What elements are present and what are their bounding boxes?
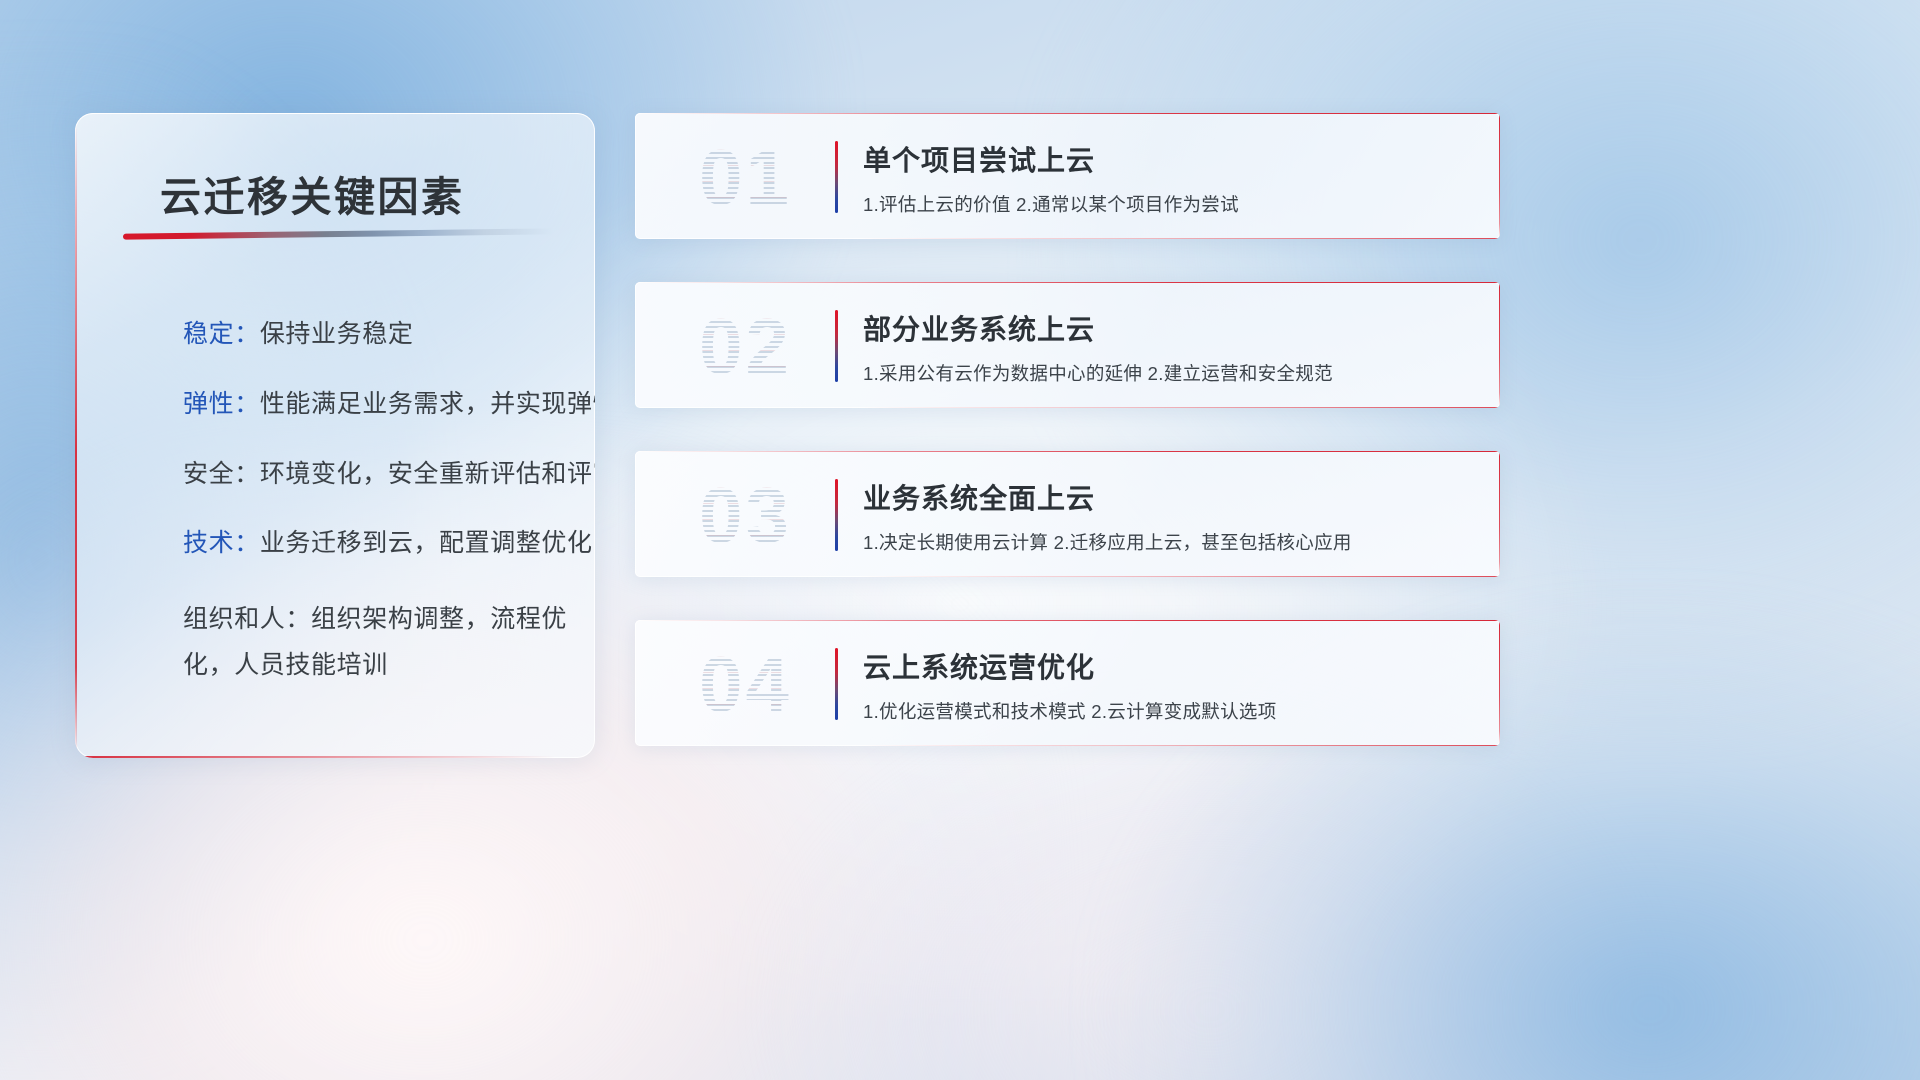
card-top-accent-line	[635, 113, 1500, 114]
panel-left-accent-line	[75, 121, 77, 756]
card-top-accent-line	[635, 451, 1500, 452]
list-item: 安全：环境变化，安全重新评估和评审	[183, 458, 571, 492]
stage-card[interactable]: 02 02 部分业务系统上云 1.采用公有云作为数据中心的延伸 2.建立运营和安…	[635, 282, 1500, 408]
list-item: 弹性：性能满足业务需求，并实现弹性	[183, 388, 571, 422]
key-factors-panel: 云迁移关键因素 稳定：保持业务稳定 弹性：性能满足业务需求，并实现弹性 安全：环…	[75, 113, 595, 758]
card-right-accent-line	[1499, 282, 1500, 408]
list-item-label: 稳定：	[183, 320, 260, 348]
panel-title-underline	[123, 228, 553, 239]
card-bottom-accent-line	[860, 576, 1500, 577]
card-top-accent-line	[635, 620, 1500, 621]
list-item: 组织和人：组织架构调整，流程优化，人员技能培训	[183, 597, 571, 688]
key-factors-list: 稳定：保持业务稳定 弹性：性能满足业务需求，并实现弹性 安全：环境变化，安全重新…	[183, 318, 571, 724]
card-top-accent-line	[635, 282, 1500, 283]
card-title: 云上系统运营优化	[863, 646, 1095, 686]
card-bottom-accent-line	[860, 745, 1500, 746]
panel-title: 云迁移关键因素	[160, 163, 465, 223]
card-bottom-accent-line	[860, 238, 1500, 239]
card-number-watermark-tint: 04	[663, 634, 828, 734]
card-description: 1.决定长期使用云计算 2.迁移应用上云，甚至包括核心应用	[863, 529, 1352, 555]
card-number-watermark-tint: 03	[663, 465, 828, 565]
stage-card[interactable]: 03 03 业务系统全面上云 1.决定长期使用云计算 2.迁移应用上云，甚至包括…	[635, 451, 1500, 577]
list-item-label: 弹性：	[183, 390, 260, 418]
card-right-accent-line	[1499, 451, 1500, 577]
list-item-text: 业务迁移到云，配置调整优化	[260, 529, 593, 557]
card-bottom-accent-line	[860, 407, 1500, 408]
card-description: 1.采用公有云作为数据中心的延伸 2.建立运营和安全规范	[863, 360, 1333, 386]
list-item: 稳定：保持业务稳定	[183, 318, 571, 352]
card-description: 1.评估上云的价值 2.通常以某个项目作为尝试	[863, 191, 1239, 217]
stage-cards-list: 01 01 单个项目尝试上云 1.评估上云的价值 2.通常以某个项目作为尝试 0…	[635, 113, 1500, 789]
panel-bottom-accent-line	[85, 756, 555, 758]
card-accent-bar	[835, 310, 838, 382]
stage-card[interactable]: 01 01 单个项目尝试上云 1.评估上云的价值 2.通常以某个项目作为尝试	[635, 113, 1500, 239]
card-accent-bar	[835, 141, 838, 213]
card-right-accent-line	[1499, 113, 1500, 239]
list-item-text: 性能满足业务需求，并实现弹性	[260, 390, 595, 418]
card-number-watermark-tint: 01	[663, 127, 828, 227]
stage-card[interactable]: 04 04 云上系统运营优化 1.优化运营模式和技术模式 2.云计算变成默认选项	[635, 620, 1500, 746]
list-item-label: 组织和人：	[183, 605, 311, 633]
card-number-watermark-tint: 02	[663, 296, 828, 396]
list-item-text: 环境变化，安全重新评估和评审	[260, 460, 595, 488]
card-title: 部分业务系统上云	[863, 308, 1095, 348]
card-title: 业务系统全面上云	[863, 477, 1095, 517]
list-item-label: 安全：	[183, 460, 260, 488]
card-right-accent-line	[1499, 620, 1500, 746]
list-item-label: 技术：	[183, 529, 260, 557]
list-item-text: 保持业务稳定	[260, 320, 414, 348]
card-accent-bar	[835, 648, 838, 720]
card-title: 单个项目尝试上云	[863, 139, 1095, 179]
card-accent-bar	[835, 479, 838, 551]
card-description: 1.优化运营模式和技术模式 2.云计算变成默认选项	[863, 698, 1277, 724]
list-item: 技术：业务迁移到云，配置调整优化	[183, 527, 571, 561]
